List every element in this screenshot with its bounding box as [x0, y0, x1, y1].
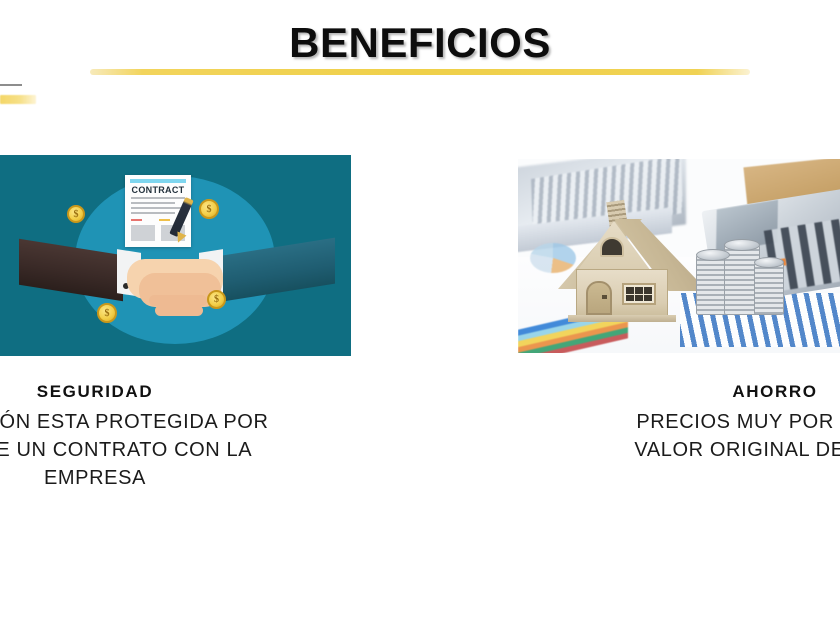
wooden-model-house	[566, 203, 688, 315]
title-underline-rule	[90, 69, 750, 75]
benefit-image-ahorro	[518, 159, 840, 353]
dollar-coin: $	[67, 205, 85, 223]
edge-gray-line-artifact	[0, 84, 22, 86]
edge-yellow-bar-artifact	[0, 95, 36, 104]
coin-stack-top	[724, 239, 760, 251]
benefit-heading-seguridad: SEGURIDAD	[0, 382, 390, 402]
contract-title-text: CONTRACT	[125, 185, 191, 195]
coin-stack	[754, 263, 784, 315]
benefit-heading-ahorro: AHORRO	[480, 382, 840, 402]
presentation-slide: BENEFICIOS CONTRACT $ $ $	[0, 0, 840, 630]
house-window	[622, 283, 656, 305]
hand-finger	[155, 305, 203, 316]
benefit-image-seguridad: CONTRACT $ $ $ $	[0, 155, 351, 356]
coin-stack-top	[754, 257, 784, 268]
house-base	[568, 315, 676, 322]
house-door	[586, 281, 612, 315]
dollar-coin: $	[199, 199, 219, 219]
house-arch-window	[600, 237, 624, 257]
dollar-coin: $	[207, 290, 226, 309]
caption-block-seguridad: SEGURIDAD NVERSIÓN ESTA PROTEGIDA POR DI…	[0, 382, 390, 492]
caption-block-ahorro: AHORRO PRECIOS MUY POR DE BAJ VALOR ORIG…	[480, 382, 840, 465]
slide-title: BENEFICIOS	[0, 22, 840, 64]
benefit-body-seguridad: NVERSIÓN ESTA PROTEGIDA POR DIO DE UN CO…	[0, 409, 390, 492]
dollar-coin: $	[97, 303, 117, 323]
coin-stack-top	[696, 249, 730, 261]
contract-header-bar	[130, 179, 186, 183]
benefit-body-ahorro: PRECIOS MUY POR DE BAJ VALOR ORIGINAL DE…	[480, 409, 840, 464]
house-door-knob	[602, 295, 607, 299]
